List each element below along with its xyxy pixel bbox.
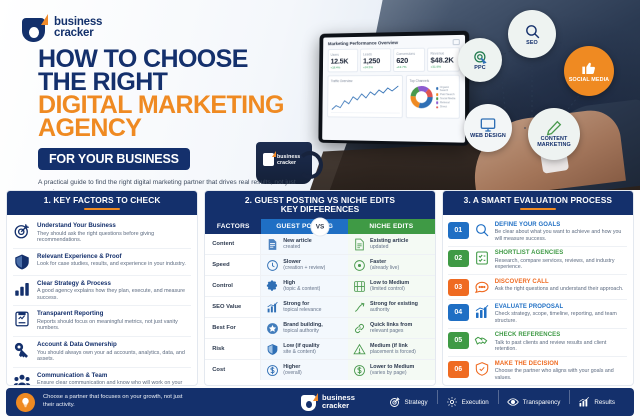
list-item[interactable]: 06 MAKE THE DECISION Choose the partner … xyxy=(448,357,627,385)
column-header-niche-edits: NICHE EDITS xyxy=(348,219,435,234)
sliders-icon xyxy=(353,280,366,293)
kpi-delta: +13.7% xyxy=(396,64,422,68)
link-icon xyxy=(353,322,366,335)
step-desc: Check strategy, scope, timeline, reporti… xyxy=(495,311,627,324)
table-row[interactable]: Best For Brand building,topical authorit… xyxy=(205,318,434,339)
footer-item-results[interactable]: Results xyxy=(569,396,624,408)
cell-niche: Lower to Medium(varies by page) xyxy=(348,360,435,380)
cell-guest: Higher(overall) xyxy=(261,360,348,380)
factor-title: Clear Strategy & Process xyxy=(37,280,191,288)
bubble-label: WEB DESIGN xyxy=(470,133,506,139)
thumbs-up-icon xyxy=(581,60,597,76)
row-factor-label: Speed xyxy=(205,255,261,275)
clock-icon xyxy=(266,259,279,272)
bar-chart-icon xyxy=(13,280,31,298)
table-row[interactable]: Risk Low (if qualitysite & content) Medi… xyxy=(205,339,434,360)
bubble-social-media[interactable]: SOCIAL MEDIA xyxy=(564,46,614,96)
line-chart-card: Traffic Overview xyxy=(327,75,403,118)
document-icon xyxy=(353,238,366,251)
shield-icon xyxy=(13,253,31,271)
handshake-icon xyxy=(474,332,490,348)
brand-line2: cracker xyxy=(54,28,102,39)
footer-item-label: Results xyxy=(594,399,615,406)
panel1-header: 1. KEY FACTORS TO CHECK xyxy=(7,191,197,215)
cell-line2: site & content) xyxy=(283,349,319,355)
step-title: EVALUATE PROPOSAL xyxy=(495,304,627,311)
table-row[interactable]: SEO Value Strong fortopical relevance St… xyxy=(205,297,434,318)
shield-check-icon xyxy=(474,361,490,377)
kpi-card: Leads 1,250 +24.5% xyxy=(360,48,391,72)
list-item[interactable]: 04 EVALUATE PROPOSAL Check strategy, sco… xyxy=(448,300,627,329)
row-factor-label: Best For xyxy=(205,318,261,338)
gear-icon xyxy=(266,280,279,293)
bubble-label: CONTENT MARKETING xyxy=(528,136,580,148)
cell-line2: (topic & content) xyxy=(283,286,320,292)
factor-title: Relevant Experience & Proof xyxy=(37,253,186,261)
vs-badge: VS xyxy=(310,217,329,236)
kpi-value: 1,250 xyxy=(363,56,388,65)
cell-guest: Low (if qualitysite & content) xyxy=(261,339,348,359)
list-item[interactable]: Account & Data Ownership You should alwa… xyxy=(13,337,191,368)
cell-line2: topical relevance xyxy=(283,307,321,313)
list-item[interactable]: 02 SHORTLIST AGENCIES Research, compare … xyxy=(448,247,627,276)
row-factor-label: Content xyxy=(205,234,261,254)
cell-niche: Strong for existingauthority xyxy=(348,297,435,317)
hero-pill-badge: FOR YOUR BUSINESS xyxy=(38,148,190,170)
panel-evaluation-process: 3. A SMART EVALUATION PROCESS 01 DEFINE … xyxy=(442,190,634,386)
panel-key-factors: 1. KEY FACTORS TO CHECK Understand Your … xyxy=(6,190,198,386)
factor-desc: Reports should focus on meaningful metri… xyxy=(37,319,191,332)
step-desc: Be clear about what you want to achieve … xyxy=(495,229,627,242)
dollar-icon xyxy=(353,364,366,377)
footer-item-transparency[interactable]: Transparency xyxy=(498,396,570,408)
bubble-label: SEO xyxy=(526,40,538,46)
clock-fast-icon xyxy=(353,259,366,272)
step-title: CHECK REFERENCES xyxy=(495,332,627,339)
shield-icon xyxy=(266,343,279,356)
row-factor-label: Control xyxy=(205,276,261,296)
table-row[interactable]: Cost Higher(overall) Lower to Medium(var… xyxy=(205,360,434,380)
brand-mark-icon xyxy=(22,14,48,42)
cell-line2: (already live) xyxy=(370,265,399,271)
list-item[interactable]: Communication & Team Ensure clear commun… xyxy=(13,368,191,386)
footer-brand-line2: cracker xyxy=(322,402,355,410)
step-title: DISCOVERY CALL xyxy=(495,279,624,286)
footer-tagline: Choose a partner that focuses on your gr… xyxy=(43,394,193,409)
cell-niche: Existing articleupdated xyxy=(348,234,435,254)
step-number-badge: 02 xyxy=(448,250,469,267)
gear-icon xyxy=(446,396,458,408)
magnifier-icon xyxy=(474,222,490,238)
kpi-value: 620 xyxy=(396,55,422,64)
panel1-underline xyxy=(84,208,120,210)
cell-niche: Medium (if linkplacement is forced) xyxy=(348,339,435,359)
factor-title: Communication & Team xyxy=(37,372,191,380)
panel2-title-line2: KEY DIFFERENCES xyxy=(207,205,432,214)
panel3-title: 3. A SMART EVALUATION PROCESS xyxy=(445,195,631,205)
bubble-web-design[interactable]: WEB DESIGN xyxy=(464,104,512,152)
cell-line2: (limited control) xyxy=(370,286,409,292)
pencil-icon xyxy=(546,120,562,136)
column-header-factors: FACTORS xyxy=(205,219,261,234)
row-factor-label: Risk xyxy=(205,339,261,359)
target-icon xyxy=(389,396,401,408)
bubble-label: PPC xyxy=(474,65,485,71)
hero-subtitle: A practical guide to find the right digi… xyxy=(38,178,308,190)
footer-logo: business cracker xyxy=(301,393,355,411)
growth-chart-icon xyxy=(266,301,279,314)
bubble-content-marketing[interactable]: CONTENT MARKETING xyxy=(528,108,580,160)
cell-guest: High(topic & content) xyxy=(261,276,348,296)
eye-icon xyxy=(507,396,519,408)
bar-chart-icon xyxy=(578,396,590,408)
panels-row: 1. KEY FACTORS TO CHECK Understand Your … xyxy=(0,190,640,386)
chat-icon xyxy=(474,279,490,295)
table-row[interactable]: Speed Slower(creation + review) Faster(a… xyxy=(205,255,434,276)
list-item[interactable]: Transparent Reporting Reports should foc… xyxy=(13,306,191,337)
factor-desc: Ensure clear communication and know who … xyxy=(37,380,191,386)
cell-line2: (varies by page) xyxy=(370,370,414,376)
document-plus-icon xyxy=(266,238,279,251)
step-desc: Research, compare services, reviews, and… xyxy=(495,258,627,271)
cell-line2: relevant pages xyxy=(370,328,412,334)
evaluation-steps-list: 01 DEFINE YOUR GOALS Be clear about what… xyxy=(443,215,633,386)
lightbulb-icon xyxy=(16,393,35,412)
magnifier-icon xyxy=(524,23,541,40)
kpi-delta: +18.4% xyxy=(330,65,354,69)
step-number-badge: 01 xyxy=(448,222,469,239)
list-item[interactable]: 01 DEFINE YOUR GOALS Be clear about what… xyxy=(448,218,627,247)
line-chart-title: Traffic Overview xyxy=(331,78,400,82)
step-number-badge: 05 xyxy=(448,332,469,349)
factor-desc: Look for case studies, results, and expe… xyxy=(37,261,186,268)
hero-headline: HOW TO CHOOSE THE RIGHT DIGITAL MARKETIN… xyxy=(38,48,308,190)
kpi-card: Conversions 620 +13.7% xyxy=(393,48,425,72)
panel-comparison-table: 2. GUEST POSTING VS NICHE EDITS KEY DIFF… xyxy=(204,190,435,386)
cell-line2: (overall) xyxy=(283,370,301,376)
bar-chart-icon xyxy=(474,304,490,320)
traffic-sparkline xyxy=(330,84,399,114)
step-desc: Talk to past clients and review results … xyxy=(495,340,627,353)
factor-desc: You should always own your ad accounts, … xyxy=(37,350,191,363)
cell-guest: Brand building,topical authority xyxy=(261,318,348,338)
table-header-row: FACTORS GUEST POSTING NICHE EDITS VS xyxy=(205,219,434,234)
star-icon xyxy=(266,322,279,335)
factor-title: Understand Your Business xyxy=(37,222,191,230)
step-desc: Ask the right questions and understand t… xyxy=(495,286,624,293)
row-factor-label: Cost xyxy=(205,360,261,380)
hero-section: business cracker Marketing Performance O… xyxy=(0,0,640,190)
cell-line2: (creation + review) xyxy=(283,265,325,271)
bubble-ppc[interactable]: PPC xyxy=(458,38,502,82)
target-icon xyxy=(13,222,31,240)
cell-niche: Faster(already live) xyxy=(348,255,435,275)
row-factor-label: SEO Value xyxy=(205,297,261,317)
panel3-header: 3. A SMART EVALUATION PROCESS xyxy=(443,191,633,215)
bubble-seo[interactable]: SEO xyxy=(508,10,556,58)
table-row[interactable]: Control High(topic & content) Low to Med… xyxy=(205,276,434,297)
list-item[interactable]: Clear Strategy & Process A good agency e… xyxy=(13,276,191,307)
footer-brand-mark-icon xyxy=(301,393,318,411)
step-number-badge: 06 xyxy=(448,361,469,378)
footer-item-label: Transparency xyxy=(523,399,561,406)
monitor-icon xyxy=(480,117,496,133)
step-title: SHORTLIST AGENCIES xyxy=(495,250,627,257)
key-factors-list: Understand Your Business They should ask… xyxy=(7,215,197,386)
cell-niche: Low to Medium(limited control) xyxy=(348,276,435,296)
list-item[interactable]: 05 CHECK REFERENCES Talk to past clients… xyxy=(448,329,627,358)
step-number-badge: 03 xyxy=(448,279,469,296)
channels-donut xyxy=(409,84,433,110)
footer-item-strategy[interactable]: Strategy xyxy=(380,396,437,408)
panel3-underline xyxy=(520,208,556,210)
service-bubbles: SEO PPC SOCIAL MEDIA WEB DESIGN CONTENT … xyxy=(432,6,632,182)
cell-line2: created xyxy=(283,244,311,250)
cell-line2: authority xyxy=(370,307,418,313)
list-item[interactable]: Relevant Experience & Proof Look for cas… xyxy=(13,249,191,276)
cell-line2: placement is forced) xyxy=(370,349,416,355)
key-icon xyxy=(13,341,31,359)
infographic-page: business cracker Marketing Performance O… xyxy=(0,0,640,420)
kpi-value: 12.5K xyxy=(331,56,355,65)
factor-title: Transparent Reporting xyxy=(37,310,191,318)
footer-item-label: Strategy xyxy=(405,399,428,406)
warning-icon xyxy=(353,343,366,356)
cursor-target-icon xyxy=(473,50,488,65)
panel1-title: 1. KEY FACTORS TO CHECK xyxy=(9,195,195,205)
table-row[interactable]: Content New articlecreated Existing arti… xyxy=(205,234,434,255)
kpi-delta: +24.5% xyxy=(363,65,388,69)
step-title: DEFINE YOUR GOALS xyxy=(495,222,627,229)
brand-logo: business cracker xyxy=(22,14,102,42)
cell-line2: topical authority xyxy=(283,328,323,334)
cell-guest: Strong fortopical relevance xyxy=(261,297,348,317)
factor-desc: A good agency explains how they plan, ex… xyxy=(37,288,191,301)
cell-niche: Quick links fromrelevant pages xyxy=(348,318,435,338)
checklist-icon xyxy=(474,250,490,266)
panel2-header: 2. GUEST POSTING VS NICHE EDITS KEY DIFF… xyxy=(205,191,434,219)
trend-arrow-icon xyxy=(353,301,366,314)
factor-desc: They should ask the right questions befo… xyxy=(37,231,191,244)
cell-guest: Slower(creation + review) xyxy=(261,255,348,275)
dollar-icon xyxy=(266,364,279,377)
list-item[interactable]: 03 DISCOVERY CALL Ask the right question… xyxy=(448,275,627,300)
list-item[interactable]: Understand Your Business They should ask… xyxy=(13,218,191,249)
cell-guest: New articlecreated xyxy=(261,234,348,254)
cell-line2: updated xyxy=(370,244,408,250)
footer-bar: Choose a partner that focuses on your gr… xyxy=(6,388,634,416)
factor-title: Account & Data Ownership xyxy=(37,341,191,349)
step-number-badge: 04 xyxy=(448,304,469,321)
people-icon xyxy=(13,372,31,386)
column-header-guest-posting: GUEST POSTING xyxy=(261,219,348,234)
headline-line-4: AGENCY xyxy=(38,117,308,140)
kpi-card: Users 12.5K +18.4% xyxy=(328,49,358,73)
footer-items: Strategy Execution Transparency Results xyxy=(380,396,624,408)
comparison-table: FACTORS GUEST POSTING NICHE EDITS VS Con… xyxy=(205,219,434,385)
bubble-label: SOCIAL MEDIA xyxy=(569,77,609,83)
step-title: MAKE THE DECISION xyxy=(495,361,627,368)
footer-item-execution[interactable]: Execution xyxy=(437,396,498,408)
step-desc: Choose the partner who aligns with your … xyxy=(495,368,627,381)
report-icon xyxy=(13,310,31,328)
footer-item-label: Execution xyxy=(462,399,489,406)
